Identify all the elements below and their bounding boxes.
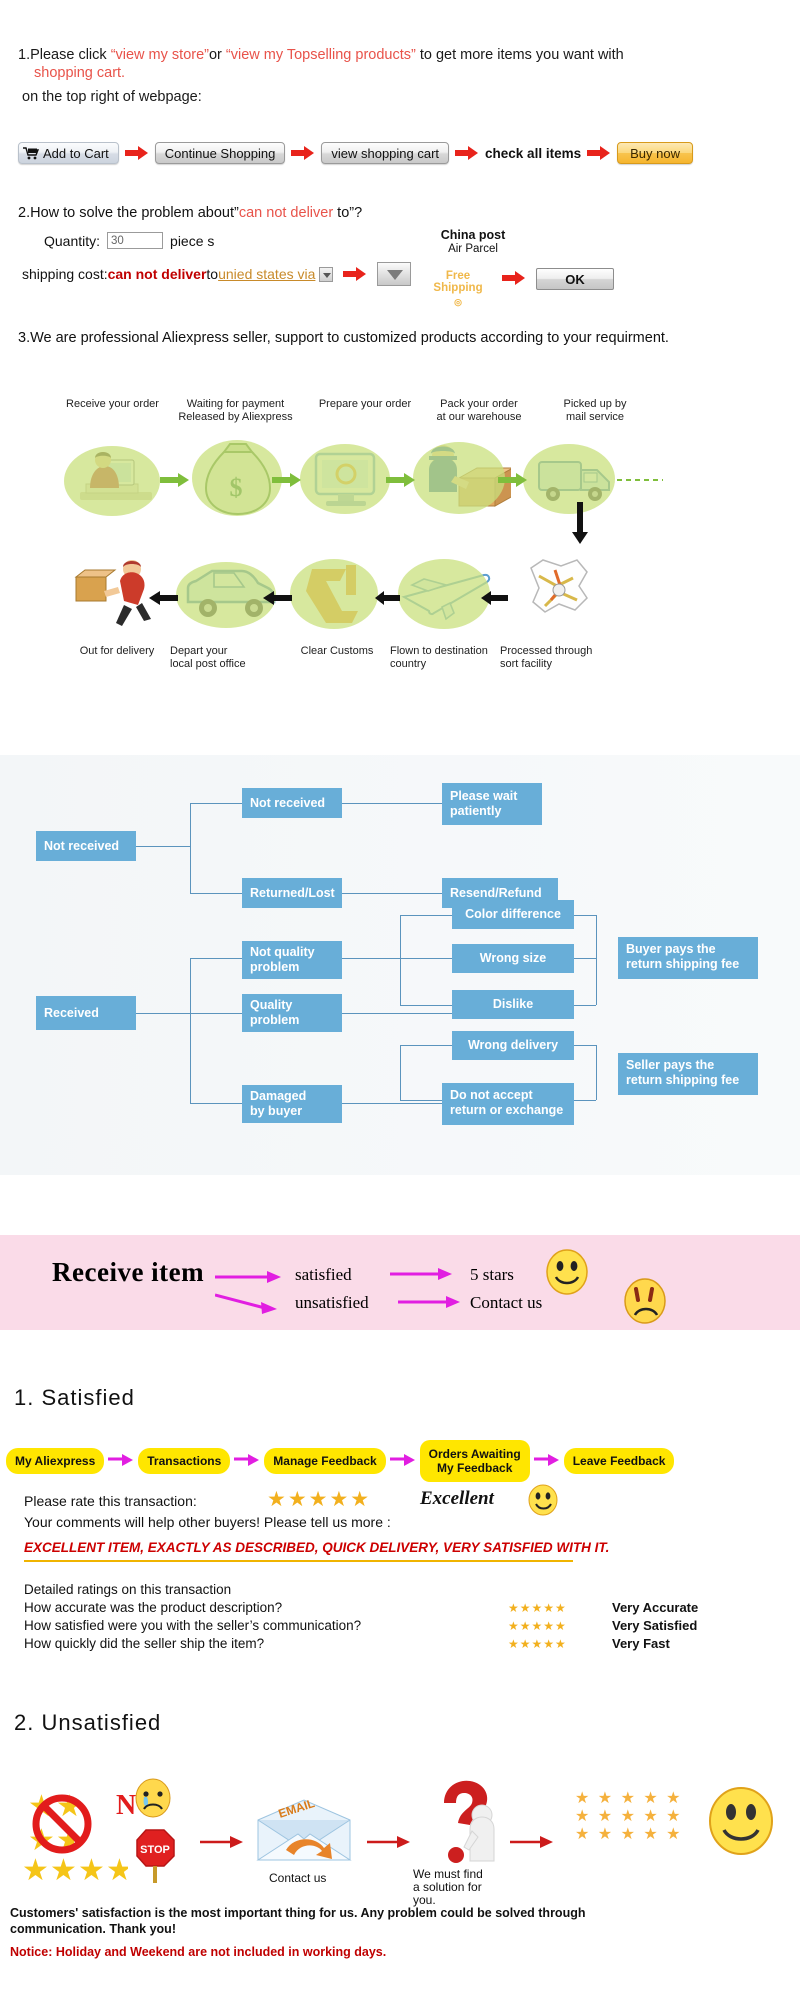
email-envelope-icon: EMAIL bbox=[250, 1790, 360, 1875]
carrier-service: Air Parcel bbox=[418, 243, 528, 255]
connector bbox=[190, 1013, 242, 1014]
check-all-items-label[interactable]: check all items bbox=[485, 146, 581, 161]
stop-sign-icon: STOP bbox=[136, 1828, 180, 1884]
free-shipping-badge: FreeShipping ◎ bbox=[424, 270, 492, 308]
happy-face-icon bbox=[545, 1249, 589, 1295]
flowchart-node-dislike: Dislike bbox=[452, 990, 574, 1019]
flowchart-node-color-difference: Color difference bbox=[452, 900, 574, 929]
flowchart-node-quality-problem: Qualityproblem bbox=[242, 994, 342, 1032]
question-2-heading: 2.How to solve the problem about”can not… bbox=[18, 205, 362, 221]
arrow-right-icon bbox=[386, 472, 416, 488]
svg-text:★: ★ bbox=[78, 1854, 105, 1885]
arrow-right-icon bbox=[534, 1454, 560, 1468]
connector bbox=[400, 1013, 452, 1014]
caption-contact-us: Contact us bbox=[269, 1872, 326, 1885]
connector bbox=[400, 958, 452, 959]
rating-stars-grid: ★ ★ ★ ★ ★ ★ ★ ★ ★ ★ ★ ★ ★ ★ ★ bbox=[575, 1790, 725, 1844]
flowchart-node-seller-pays: Seller pays thereturn shipping fee bbox=[618, 1053, 758, 1095]
connector bbox=[400, 915, 401, 1005]
rating-question-shipping: How quickly did the seller ship the item… bbox=[24, 1636, 264, 1651]
step-manage-feedback-label: Manage Feedback bbox=[273, 1454, 376, 1468]
connector bbox=[400, 1045, 452, 1046]
arrow-left-icon bbox=[262, 590, 292, 606]
arrow-right-dashed-icon bbox=[617, 472, 667, 488]
connector bbox=[190, 958, 242, 959]
svg-text:★: ★ bbox=[22, 1854, 49, 1885]
carrier-dropdown-button[interactable] bbox=[377, 262, 411, 286]
carrier-info: China post Air Parcel bbox=[418, 228, 528, 255]
flowchart-node-buyer-pays: Buyer pays thereturn shipping fee bbox=[618, 937, 758, 979]
shipping-cost-label: shipping cost: bbox=[22, 266, 108, 282]
connector bbox=[342, 1013, 400, 1014]
rating-question-communication: How satisfied were you with the seller’s… bbox=[24, 1618, 361, 1633]
arrow-right-icon bbox=[215, 1270, 285, 1286]
quantity-input[interactable]: 30 bbox=[107, 232, 163, 249]
satisfied-label: satisfied bbox=[295, 1265, 352, 1285]
q2-text-a: 2.How to solve the problem about” bbox=[18, 205, 239, 221]
step-manage-feedback[interactable]: Manage Feedback bbox=[264, 1448, 385, 1474]
step-orders-awaiting-feedback[interactable]: Orders AwaitingMy Feedback bbox=[420, 1440, 530, 1482]
flowchart-node-please-wait: Please waitpatiently bbox=[442, 783, 542, 825]
text-prefix: 1.Please click bbox=[18, 47, 111, 63]
connector bbox=[190, 803, 191, 893]
connector bbox=[190, 893, 242, 894]
rating-stars-communication[interactable]: ★★★★★ bbox=[508, 1619, 567, 1633]
satisfied-heading: 1. Satisfied bbox=[14, 1385, 135, 1411]
quantity-row: Quantity: 30 piece s bbox=[44, 232, 214, 249]
arrow-right-icon bbox=[343, 266, 367, 282]
question-mark-person-icon bbox=[420, 1775, 516, 1878]
arrow-right-icon bbox=[510, 1835, 556, 1851]
comments-prompt: Your comments will help other buyers! Pl… bbox=[24, 1514, 391, 1530]
flowchart-node-received-root: Received bbox=[36, 996, 136, 1030]
connector bbox=[400, 915, 452, 916]
flowchart-node-not-received-root: Not received bbox=[36, 831, 136, 861]
step-transactions-label: Transactions bbox=[147, 1454, 221, 1468]
link-view-my-store[interactable]: “view my store” bbox=[111, 47, 209, 63]
connector bbox=[400, 1005, 452, 1006]
step-transactions[interactable]: Transactions bbox=[138, 1448, 230, 1474]
connector bbox=[136, 846, 190, 847]
continue-shopping-label: Continue Shopping bbox=[165, 146, 276, 161]
flow-label-processed-sort: Processed throughsort facility bbox=[500, 645, 630, 671]
feedback-steps-row: My Aliexpress Transactions Manage Feedba… bbox=[6, 1440, 674, 1482]
comment-underline bbox=[24, 1560, 573, 1562]
flowchart-node-wrong-size: Wrong size bbox=[452, 944, 574, 973]
add-to-cart-button[interactable]: Add to Cart bbox=[18, 142, 119, 164]
buy-now-label: Buy now bbox=[630, 146, 680, 161]
connector bbox=[574, 1100, 596, 1101]
arrow-right-icon bbox=[498, 472, 528, 488]
connector bbox=[342, 803, 442, 804]
caption-solution: We must finda solution foryou. bbox=[413, 1868, 483, 1907]
connector bbox=[596, 915, 597, 1005]
rating-label-communication: Very Satisfied bbox=[612, 1618, 697, 1633]
footer-satisfaction-note: Customers' satisfaction is the most impo… bbox=[10, 1905, 650, 1937]
flow-icon-customs-stamp bbox=[292, 555, 384, 636]
continue-shopping-button[interactable]: Continue Shopping bbox=[155, 142, 286, 164]
rating-stars[interactable]: ★★★★★ bbox=[267, 1487, 371, 1512]
arrow-right-icon bbox=[108, 1454, 134, 1468]
arrow-left-icon bbox=[374, 590, 400, 606]
flowchart-node-not-quality-problem: Not qualityproblem bbox=[242, 941, 342, 979]
arrow-right-icon bbox=[291, 145, 315, 161]
arrow-left-icon bbox=[480, 590, 508, 606]
step-my-aliexpress-label: My Aliexpress bbox=[15, 1454, 95, 1468]
connector bbox=[190, 1103, 242, 1104]
destination-dropdown-arrow-icon[interactable] bbox=[319, 267, 333, 282]
arrow-right-icon bbox=[502, 270, 526, 286]
connector bbox=[574, 958, 596, 959]
view-shopping-cart-button[interactable]: view shopping cart bbox=[321, 142, 449, 164]
connector bbox=[400, 1045, 401, 1100]
connector bbox=[190, 803, 242, 804]
connector bbox=[342, 958, 400, 959]
rating-stars-accuracy[interactable]: ★★★★★ bbox=[508, 1601, 567, 1615]
arrow-right-icon bbox=[398, 1295, 464, 1311]
contact-us-label: Contact us bbox=[470, 1293, 542, 1313]
flowchart-node-no-return-exchange: Do not acceptreturn or exchange bbox=[442, 1083, 574, 1125]
carrier-name: China post bbox=[418, 228, 528, 242]
link-view-topselling[interactable]: “view my Topselling products” bbox=[226, 47, 416, 63]
flow-label-waiting-payment: Waiting for paymentReleased by Aliexpres… bbox=[168, 398, 303, 424]
connector bbox=[342, 893, 442, 894]
flowchart-node-damaged-by-buyer: Damagedby buyer bbox=[242, 1085, 342, 1123]
rating-stars-shipping[interactable]: ★★★★★ bbox=[508, 1637, 567, 1651]
q2-text-red: can not deliver bbox=[239, 205, 333, 221]
rating-label-accuracy: Very Accurate bbox=[612, 1600, 698, 1615]
question-3-heading: 3.We are professional Aliexpress seller,… bbox=[18, 330, 669, 346]
text-suffix: to get more items you want with bbox=[416, 47, 624, 63]
flow-label-pack-order: Pack your orderat our warehouse bbox=[420, 398, 538, 424]
shipping-to-text: to bbox=[206, 266, 218, 282]
footer-holiday-notice: Notice: Holiday and Weekend are not incl… bbox=[10, 1945, 386, 1959]
flow-icon-person-at-computer bbox=[70, 438, 166, 521]
add-to-cart-label: Add to Cart bbox=[43, 146, 109, 161]
flowchart-node-returned-lost: Returned/Lost bbox=[242, 878, 342, 908]
connector bbox=[574, 1005, 596, 1006]
rating-word: Excellent bbox=[420, 1488, 494, 1510]
arrow-right-icon bbox=[125, 145, 149, 161]
instruction-line-1-wrap: shopping cart. bbox=[34, 64, 125, 83]
flowchart-node-not-received-child: Not received bbox=[242, 788, 342, 818]
arrow-right-icon bbox=[200, 1835, 246, 1851]
sad-face-icon bbox=[623, 1277, 667, 1325]
rate-prompt: Please rate this transaction: bbox=[24, 1493, 197, 1509]
destination-select-value[interactable]: unied states via bbox=[218, 266, 315, 282]
detailed-ratings-title: Detailed ratings on this transaction bbox=[24, 1582, 231, 1597]
flow-icon-worker-packing bbox=[415, 434, 511, 521]
q2-text-b: to”? bbox=[333, 205, 362, 221]
shipping-cost-row: shipping cost:can not deliver to unied s… bbox=[22, 262, 411, 286]
flow-icon-monitor bbox=[300, 440, 392, 521]
order-process-flow: Receive your order Waiting for paymentRe… bbox=[0, 390, 800, 730]
big-happy-face-icon bbox=[708, 1786, 774, 1856]
return-policy-flowchart: Not received Not received Returned/Lost … bbox=[0, 755, 800, 1175]
step-my-aliexpress[interactable]: My Aliexpress bbox=[6, 1448, 104, 1474]
text-mid: or bbox=[209, 47, 226, 63]
arrow-right-down-icon bbox=[215, 1293, 285, 1319]
connector bbox=[596, 1045, 597, 1100]
flow-label-receive-order: Receive your order bbox=[55, 398, 170, 411]
cart-steps-row: Add to Cart Continue Shopping view shopp… bbox=[18, 140, 693, 166]
piece-label: piece s bbox=[170, 233, 214, 249]
flow-label-depart-post-office: Depart yourlocal post office bbox=[170, 645, 280, 671]
unsatisfied-label: unsatisfied bbox=[295, 1293, 369, 1313]
step-leave-feedback-label: Leave Feedback bbox=[573, 1454, 666, 1468]
shopping-cart-icon bbox=[23, 147, 39, 160]
connector bbox=[342, 1103, 442, 1104]
arrow-right-icon bbox=[234, 1454, 260, 1468]
product-description-page: 1.Please click “view my store”or “view m… bbox=[0, 0, 800, 2000]
flow-label-clear-customs: Clear Customs bbox=[282, 645, 392, 658]
ok-button[interactable]: OK bbox=[536, 268, 614, 290]
rating-label-shipping: Very Fast bbox=[612, 1636, 670, 1651]
arrow-left-icon bbox=[148, 590, 178, 606]
buy-now-button[interactable]: Buy now bbox=[617, 142, 693, 164]
receive-item-title: Receive item bbox=[52, 1257, 204, 1288]
arrow-right-icon bbox=[160, 472, 190, 488]
flow-label-picked-up: Picked up bymail service bbox=[540, 398, 650, 424]
receive-item-banner: Receive item satisfied unsatisfied 5 sta… bbox=[0, 1235, 800, 1330]
happy-face-icon bbox=[528, 1484, 558, 1516]
step-leave-feedback[interactable]: Leave Feedback bbox=[564, 1448, 675, 1474]
connector bbox=[190, 958, 191, 1103]
svg-text:★: ★ bbox=[106, 1854, 128, 1885]
flow-icon-sorting-facility bbox=[505, 550, 605, 635]
connector bbox=[136, 1013, 190, 1014]
arrow-right-icon bbox=[390, 1454, 416, 1468]
instruction-line-1: 1.Please click “view my store”or “view m… bbox=[18, 46, 624, 65]
crying-face-icon bbox=[134, 1778, 172, 1818]
instruction-line-2: on the top right of webpage: bbox=[22, 88, 202, 107]
flowchart-node-wrong-delivery: Wrong delivery bbox=[452, 1031, 574, 1060]
connector bbox=[574, 1045, 596, 1046]
arrow-right-icon bbox=[587, 145, 611, 161]
view-shopping-cart-label: view shopping cart bbox=[331, 146, 439, 161]
five-stars-label: 5 stars bbox=[470, 1265, 514, 1285]
arrow-right-icon bbox=[367, 1835, 413, 1851]
arrow-right-icon bbox=[390, 1267, 456, 1283]
arrow-right-icon bbox=[272, 472, 302, 488]
svg-text:STOP: STOP bbox=[140, 1844, 170, 1856]
svg-text:★: ★ bbox=[50, 1854, 77, 1885]
rating-question-accuracy: How accurate was the product description… bbox=[24, 1600, 282, 1615]
no-low-rating-icon: ★ ★ ★ ★ ★ ★ ★ ★ bbox=[18, 1780, 128, 1890]
shipping-cost-value: can not deliver bbox=[108, 266, 207, 282]
flow-label-out-for-delivery: Out for delivery bbox=[62, 645, 172, 658]
arrow-down-icon bbox=[572, 502, 588, 546]
feedback-comment-text: EXCELLENT ITEM, EXACTLY AS DESCRIBED, QU… bbox=[24, 1540, 609, 1555]
connector bbox=[574, 915, 596, 916]
flow-label-prepare-order: Prepare your order bbox=[305, 398, 425, 411]
arrow-right-icon bbox=[455, 145, 479, 161]
quantity-label: Quantity: bbox=[44, 233, 100, 249]
unsatisfied-heading: 2. Unsatisfied bbox=[14, 1710, 161, 1736]
